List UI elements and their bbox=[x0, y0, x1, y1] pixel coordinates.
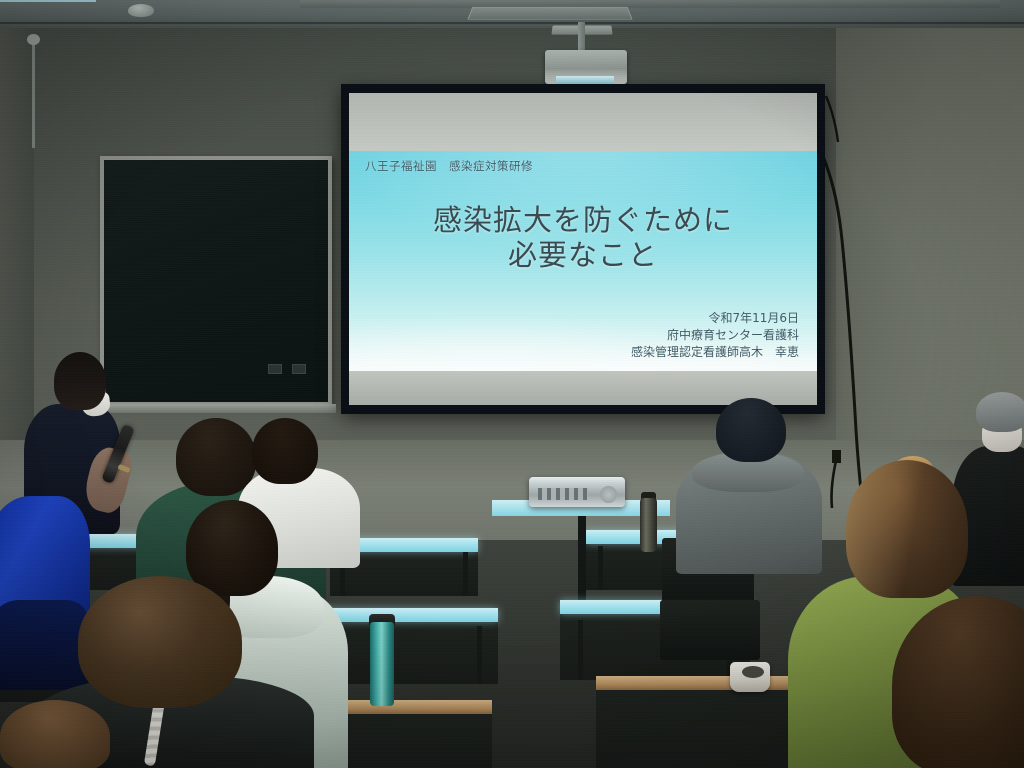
olive-green-attendee-head bbox=[846, 460, 968, 598]
presentation-slide: 八王子福祉園 感染症対策研修 感染拡大を防ぐために 必要なこと 令和7年11月6… bbox=[349, 151, 817, 371]
left-wall-pillar bbox=[0, 28, 34, 458]
mug-opening bbox=[742, 666, 764, 678]
white-top-attendee-head bbox=[252, 418, 318, 484]
blackboard-surface bbox=[104, 160, 328, 402]
desk-leg bbox=[578, 620, 583, 680]
classroom-scene: 八王子福祉園 感染症対策研修 感染拡大を防ぐために 必要なこと 令和7年11月6… bbox=[0, 0, 1024, 768]
projector-mount-arm bbox=[578, 22, 585, 52]
ceiling-rod-knob bbox=[27, 34, 40, 45]
ceiling-vent bbox=[468, 7, 633, 20]
presenter-head bbox=[54, 352, 106, 410]
projector-vent-icon bbox=[600, 486, 617, 503]
blackboard-magnet-icon bbox=[292, 364, 306, 374]
ceiling-hanging-rod bbox=[32, 38, 35, 148]
green-shirt-attendee-head bbox=[176, 418, 256, 496]
teal-thermos-tumbler bbox=[370, 622, 394, 706]
ceiling-dome-light-icon bbox=[128, 4, 154, 17]
table-projector bbox=[529, 477, 625, 507]
slide-title: 感染拡大を防ぐために 必要なこと bbox=[349, 203, 817, 274]
blue-jacket-attendee-lower bbox=[0, 600, 88, 690]
screen-canvas: 八王子福祉園 感染症対策研修 感染拡大を防ぐために 必要なこと 令和7年11月6… bbox=[349, 93, 817, 405]
slide-footer: 令和7年11月6日 府中療育センター看護科 感染管理認定看護師高木 幸恵 bbox=[631, 310, 799, 361]
ceiling-strip bbox=[300, 0, 1000, 8]
ceiling-seam bbox=[0, 22, 1024, 24]
desk-leg bbox=[463, 552, 468, 596]
table-projector-top bbox=[0, 0, 96, 2]
blackboard-chalk-ledge bbox=[98, 404, 336, 413]
mint-hoodie-attendee-head bbox=[186, 500, 278, 596]
desk-surface bbox=[596, 676, 806, 690]
desk-row-front-right bbox=[596, 676, 806, 768]
slide-footer-date: 令和7年11月6日 bbox=[631, 310, 799, 327]
foreground-attendee-head bbox=[0, 700, 110, 768]
masked-attendee-right-head bbox=[976, 392, 1024, 432]
blackboard bbox=[100, 156, 332, 406]
blackboard-magnet-icon bbox=[268, 364, 282, 374]
dark-drink-bottle bbox=[640, 498, 657, 552]
slide-footer-org: 府中療育センター看護科 bbox=[631, 327, 799, 344]
slide-title-line-1: 感染拡大を防ぐために bbox=[433, 203, 733, 237]
projection-screen: 八王子福祉園 感染症対策研修 感染拡大を防ぐために 必要なこと 令和7年11月6… bbox=[341, 84, 825, 414]
slide-header-text: 八王子福祉園 感染症対策研修 bbox=[365, 158, 533, 174]
desk-leg bbox=[477, 626, 482, 684]
desk-surface bbox=[318, 608, 498, 622]
white-mug bbox=[730, 662, 770, 692]
gray-hoodie-attendee-head bbox=[716, 398, 786, 462]
brown-hair-attendee-head bbox=[78, 576, 242, 708]
chair-mid bbox=[660, 600, 760, 660]
screen-blank-band-top bbox=[349, 93, 817, 151]
slide-title-line-2: 必要なこと bbox=[349, 238, 817, 273]
projector-ports-icon bbox=[538, 488, 588, 500]
slide-footer-presenter: 感染管理認定看護師高木 幸恵 bbox=[631, 344, 799, 361]
